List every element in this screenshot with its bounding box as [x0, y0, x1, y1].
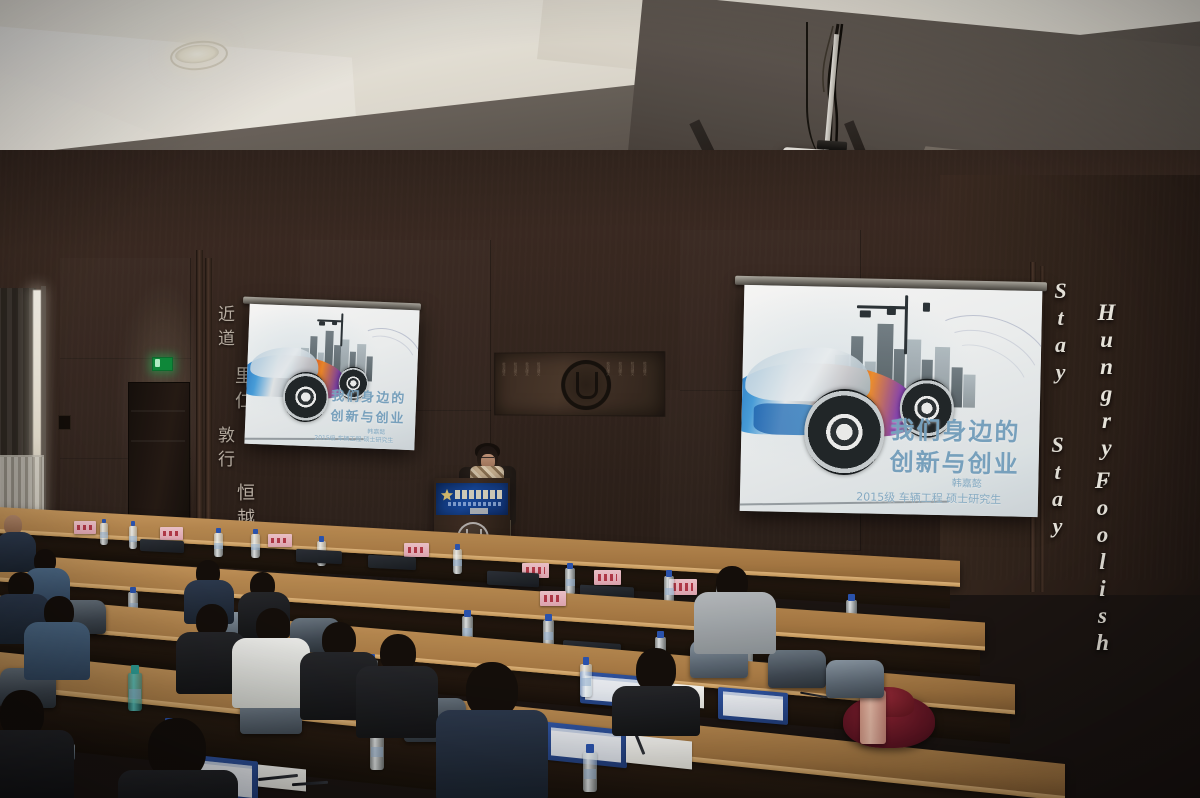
slide-title-line2: 创新与创业	[330, 405, 406, 427]
plaque-text: 校训碑文	[629, 362, 634, 407]
traffic-light-head	[923, 302, 930, 311]
slide-title-line1: 我们身边的	[331, 385, 407, 407]
traffic-light-head	[319, 322, 325, 326]
traffic-light-head	[860, 310, 871, 317]
pink-tumbler	[860, 690, 886, 744]
name-card	[540, 591, 566, 606]
plaque-text: 校训碑文	[512, 362, 516, 405]
wall-motto-en-1: Stay	[1047, 278, 1073, 386]
plaque-text: 校训碑文	[617, 362, 622, 406]
left-projection-screen: 我们身边的 创新与创业 韩嘉懿 2015级 车辆工程 硕士研究生	[244, 304, 419, 450]
water-bottle	[453, 549, 462, 574]
podium-nameplate	[470, 508, 488, 514]
laptop[interactable]	[487, 571, 539, 588]
wall-motto-en-3: Stay	[1044, 432, 1070, 540]
name-card	[160, 527, 183, 540]
traffic-light-head	[332, 321, 337, 325]
laptop[interactable]	[296, 549, 342, 564]
exit-sign-glyph-icon	[155, 359, 160, 367]
plaque-text: 校训碑文	[605, 362, 610, 406]
laptop[interactable]	[368, 555, 416, 571]
clipboard-document[interactable]	[718, 687, 788, 725]
name-card	[268, 534, 292, 547]
chair[interactable]	[768, 650, 826, 688]
wall-plaque: 校训碑文 校训碑文 校训碑文 校训碑文 校训碑文 校训碑文 校训碑文 校训碑文	[494, 351, 665, 416]
traffic-light-head	[887, 308, 896, 315]
wall-switch-box[interactable]	[58, 415, 71, 430]
wall-motto-cn-3: 敦行	[212, 426, 237, 474]
slide-presenter-name: 韩嘉懿	[952, 475, 982, 491]
water-bottle-teal	[128, 673, 142, 711]
right-slide-artwork: 我们身边的 创新与创业 韩嘉懿 2015级 车辆工程 硕士研究生	[740, 285, 1043, 517]
star-icon	[440, 488, 454, 502]
plaque-text: 校训碑文	[642, 362, 647, 407]
water-bottle	[583, 752, 597, 792]
water-bottle	[214, 533, 223, 557]
name-card	[404, 543, 429, 557]
door-rail	[131, 410, 185, 412]
wall-motto-en-2: Hungry,	[1093, 300, 1119, 489]
water-bottle	[100, 523, 108, 545]
laptop[interactable]	[140, 539, 184, 553]
plaque-text: 校训碑文	[536, 362, 540, 406]
right-projection-screen: 我们身边的 创新与创业 韩嘉懿 2015级 车辆工程 硕士研究生	[740, 285, 1043, 517]
lecture-hall-photo: 近道 里仁 敦行 恒越 Stay Hungry, Stay Foolish 校训…	[0, 0, 1200, 798]
podium-banner-subline	[448, 502, 502, 506]
door-rail	[131, 440, 185, 442]
name-card	[594, 570, 621, 585]
water-bottle	[251, 534, 260, 558]
wall-motto-cn-1: 近道	[212, 305, 237, 353]
slide-presenter-info: 2015级 车辆工程 硕士研究生	[856, 488, 1001, 507]
name-card	[74, 521, 96, 534]
water-bottle	[565, 568, 575, 595]
wall-motto-en-4: Foolish	[1089, 468, 1115, 657]
left-slide-artwork: 我们身边的 创新与创业 韩嘉懿 2015级 车辆工程 硕士研究生	[244, 304, 419, 450]
water-bottle	[580, 664, 592, 697]
chair[interactable]	[826, 660, 884, 698]
plaque-text: 校训碑文	[524, 362, 528, 405]
university-crest-icon	[561, 360, 611, 410]
speaker-glasses-icon	[481, 457, 494, 462]
plaque-text: 校训碑文	[501, 362, 505, 405]
water-bottle	[129, 526, 137, 549]
podium-banner-headline	[455, 490, 504, 499]
